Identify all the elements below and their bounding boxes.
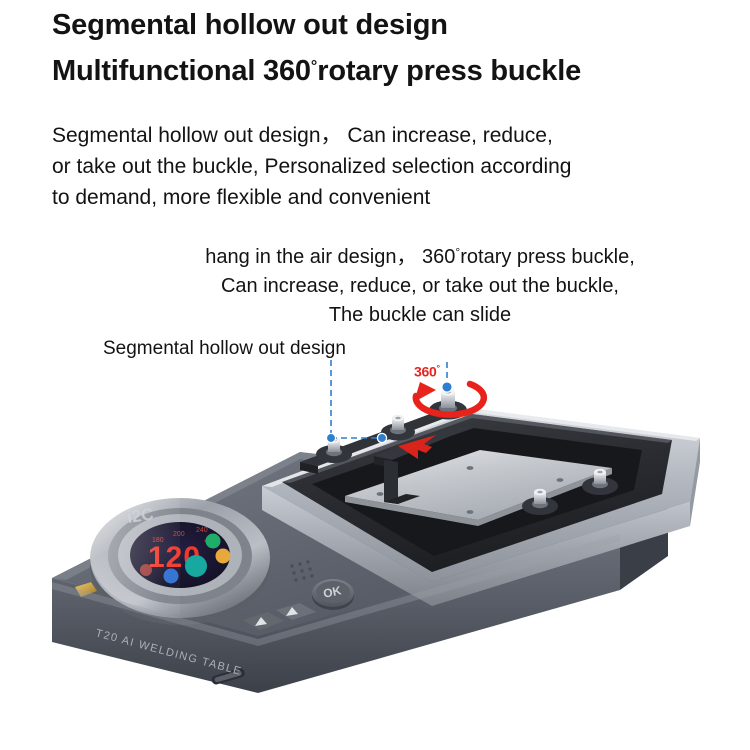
display-icon-leaf (206, 534, 221, 549)
press-arm-finger (384, 460, 398, 504)
callout-label-segmental: Segmental hollow out design (103, 338, 346, 360)
description-paragraph: Segmental hollow out design， Can increas… (52, 120, 712, 213)
display-tick-240: 240 (196, 527, 208, 534)
display-icon-gauge (216, 549, 231, 564)
description-line-1: Segmental hollow out design， Can increas… (52, 120, 712, 151)
display-icon-fan (185, 555, 207, 577)
leader-dot-left (326, 433, 335, 442)
feature-line-2: Can increase, reduce, or take out the bu… (140, 272, 700, 301)
leader-dot-right (442, 382, 452, 392)
page-title-line-2-post: rotary press buckle (317, 55, 581, 87)
feature-line-1: hang in the air design， 360°rotary press… (140, 238, 700, 272)
page-title: Segmental hollow out design Multifunctio… (52, 4, 742, 92)
thumb-screw (532, 489, 548, 508)
feature-line-1-post: rotary press buckle, (460, 246, 635, 268)
page-title-line-2: Multifunctional 360°rotary press buckle (52, 46, 742, 92)
page-title-line-1: Segmental hollow out design (52, 4, 742, 46)
ok-button[interactable]: OK (312, 579, 354, 610)
thumb-screw (592, 469, 608, 488)
description-line-2: or take out the buckle, Personalized sel… (52, 151, 712, 182)
feature-line-3: The buckle can slide (140, 301, 700, 330)
plate-hole (557, 478, 564, 482)
leader-dot-left-end (377, 433, 386, 442)
thumb-screw (390, 415, 406, 434)
feature-line-1-pre: hang in the air design， 360 (205, 246, 455, 268)
description-line-3: to demand, more flexible and convenient (52, 182, 712, 213)
plate-hole (377, 492, 384, 496)
plate-hole (467, 466, 474, 470)
page-title-line-2-pre: Multifunctional 360 (52, 55, 311, 87)
feature-text-block: hang in the air design， 360°rotary press… (140, 238, 700, 330)
rotation-arrowhead (414, 382, 436, 402)
product-photo: 180 200 240 120 ° i2C OK (0, 360, 750, 750)
plate-hole (467, 510, 474, 514)
